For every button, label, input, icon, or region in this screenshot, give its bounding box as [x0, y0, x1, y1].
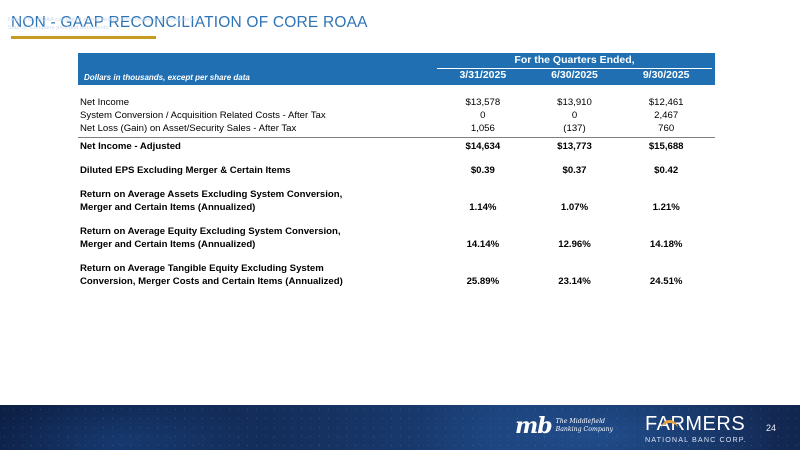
row-value: 1,056	[437, 122, 529, 135]
farmers-wordmark: FARMERS	[645, 414, 755, 435]
column-header-q2: 6/30/2025	[529, 69, 621, 81]
row-label-line1: Return on Average Equity Excluding Syste…	[80, 225, 437, 238]
title-underline-rule	[11, 36, 156, 39]
row-values: $13,578 $13,910 $12,461	[437, 96, 712, 109]
row-value: 14.14%	[437, 238, 529, 251]
row-value: 12.96%	[529, 238, 621, 251]
row-value: 0	[437, 109, 529, 122]
mb-wordmark-line2: Banking Company	[556, 426, 613, 434]
row-value: 14.18%	[620, 238, 712, 251]
farmers-national-banc-logo: FARMERS NATIONAL BANC CORP.	[645, 414, 755, 444]
row-value: 1.14%	[437, 201, 529, 214]
table-row: Net Income $13,578 $13,910 $12,461	[78, 96, 715, 109]
row-value: $0.42	[620, 164, 712, 177]
row-label-line2: Merger and Certain Items (Annualized)	[80, 238, 437, 251]
table-row: Return on Average Assets Excluding Syste…	[78, 188, 715, 214]
farmers-wordmark-text: FARMERS	[645, 413, 745, 435]
table-header: For the Quarters Ended, 3/31/2025 6/30/2…	[78, 53, 715, 85]
row-value: 1.21%	[620, 201, 712, 214]
row-value: 23.14%	[529, 275, 621, 288]
row-label: Return on Average Assets Excluding Syste…	[78, 188, 437, 214]
middlefield-banking-logo: mb The Middlefield Banking Company	[515, 415, 613, 437]
table-row: Return on Average Equity Excluding Syste…	[78, 225, 715, 251]
row-value: $14,634	[437, 140, 529, 153]
mb-wordmark-line1: The Middlefield	[556, 418, 613, 426]
row-value: (137)	[529, 122, 621, 135]
mb-wordmark: The Middlefield Banking Company	[556, 418, 613, 434]
row-value: $13,910	[529, 96, 621, 109]
farmers-subwordmark: NATIONAL BANC CORP.	[645, 435, 755, 444]
row-values: 14.14% 12.96% 14.18%	[437, 238, 712, 251]
table-row: Net Loss (Gain) on Asset/Security Sales …	[78, 122, 715, 135]
table-body: Net Income $13,578 $13,910 $12,461 Syste…	[78, 85, 715, 288]
table-subcaption: Dollars in thousands, except per share d…	[84, 73, 250, 82]
row-label: Return on Average Equity Excluding Syste…	[78, 225, 437, 251]
row-label-line2: Conversion, Merger Costs and Certain Ite…	[80, 275, 437, 288]
row-values: 1.14% 1.07% 1.21%	[437, 201, 712, 214]
table-column-headers: 3/31/2025 6/30/2025 9/30/2025	[437, 69, 712, 81]
row-values: 1,056 (137) 760	[437, 122, 712, 135]
footnote-source: Source: Company-provided documents	[8, 24, 197, 32]
table-row-total: Net Income - Adjusted $14,634 $13,773 $1…	[78, 140, 715, 153]
row-value: $12,461	[620, 96, 712, 109]
table-row: Return on Average Tangible Equity Exclud…	[78, 262, 715, 288]
row-values: $0.39 $0.37 $0.42	[437, 164, 712, 177]
column-header-q1: 3/31/2025	[437, 69, 529, 81]
subtotal-rule	[78, 137, 715, 138]
row-label-line1: Return on Average Tangible Equity Exclud…	[80, 262, 437, 275]
row-label: Diluted EPS Excluding Merger & Certain I…	[78, 164, 437, 177]
row-values: 0 0 2,467	[437, 109, 712, 122]
footnote-note: Note: Core ROAA calculated as net income…	[8, 16, 197, 24]
row-value: 2,467	[620, 109, 712, 122]
slide: NON - GAAP RECONCILIATION OF CORE ROAA F…	[0, 0, 800, 450]
row-value: 760	[620, 122, 712, 135]
row-value: 24.51%	[620, 275, 712, 288]
table-group-header: For the Quarters Ended,	[437, 54, 712, 66]
table-row: Diluted EPS Excluding Merger & Certain I…	[78, 164, 715, 177]
reconciliation-table: For the Quarters Ended, 3/31/2025 6/30/2…	[78, 53, 715, 288]
row-value: 0	[529, 109, 621, 122]
column-header-q3: 9/30/2025	[620, 69, 712, 81]
row-label-line1: Return on Average Assets Excluding Syste…	[80, 188, 437, 201]
row-value: $13,773	[529, 140, 621, 153]
row-label: Return on Average Tangible Equity Exclud…	[78, 262, 437, 288]
row-value: $0.39	[437, 164, 529, 177]
row-label: System Conversion / Acquisition Related …	[78, 109, 437, 122]
table-row: System Conversion / Acquisition Related …	[78, 109, 715, 122]
row-label: Net Income - Adjusted	[78, 140, 437, 153]
row-value: $0.37	[529, 164, 621, 177]
page-number: 24	[766, 423, 776, 433]
row-label: Net Loss (Gain) on Asset/Security Sales …	[78, 122, 437, 135]
row-label: Net Income	[78, 96, 437, 109]
mb-monogram-icon: mb	[515, 415, 552, 437]
row-value: $15,688	[620, 140, 712, 153]
footnote: Note: Core ROAA calculated as net income…	[8, 16, 197, 32]
row-value: 25.89%	[437, 275, 529, 288]
row-value: 1.07%	[529, 201, 621, 214]
row-label-line2: Merger and Certain Items (Annualized)	[80, 201, 437, 214]
row-values: 25.89% 23.14% 24.51%	[437, 275, 712, 288]
row-values: $14,634 $13,773 $15,688	[437, 140, 712, 153]
row-value: $13,578	[437, 96, 529, 109]
